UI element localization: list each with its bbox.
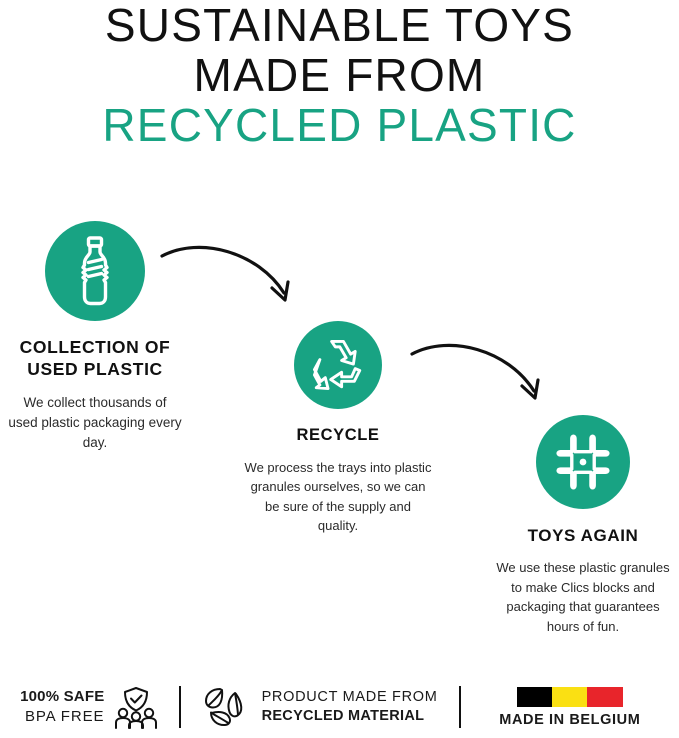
footer-badges: 100% SAFE BPA FREE [0,676,679,738]
belgium-label: MADE IN BELGIUM [499,712,640,728]
badge-made-in-belgium: MADE IN BELGIUM [461,681,679,733]
step-recycle: RECYCLE We process the trays into plasti… [238,321,438,536]
step-1-body: We collect thousands of used plastic pac… [0,393,190,454]
flag-stripe-black [517,687,552,707]
belgium-wrap: MADE IN BELGIUM [499,687,640,728]
title-line-3-accent: RECYCLED PLASTIC [0,100,679,150]
plastic-bottle-icon [68,235,122,307]
badge-bpa-free-text: 100% SAFE BPA FREE [20,687,104,727]
step-3-body: We use these plastic granules to make Cl… [487,558,679,636]
badge-bpa-free-line1: 100% SAFE [20,687,104,707]
flag-stripe-red [587,687,622,707]
step-collection-of-used-plastic: COLLECTION OF USED PLASTIC We collect th… [0,221,190,454]
badge-recycled-line2: RECYCLED MATERIAL [262,707,438,726]
step-2-circle [294,321,382,409]
badge-recycled-line1: PRODUCT MADE FROM [262,688,438,707]
step-1-circle [45,221,145,321]
badge-recycled-material-text: PRODUCT MADE FROM RECYCLED MATERIAL [262,688,438,726]
page-title: SUSTAINABLE TOYS MADE FROM RECYCLED PLAS… [0,0,679,150]
step-3-circle [536,415,630,509]
title-line-1: SUSTAINABLE TOYS [0,0,679,50]
flag-stripe-yellow [552,687,587,707]
step-3-title: TOYS AGAIN [487,525,679,546]
clics-block-icon [553,433,613,491]
badge-bpa-free: 100% SAFE BPA FREE [0,681,179,733]
badge-bpa-free-line2: BPA FREE [20,707,104,727]
title-line-2: MADE FROM [0,50,679,100]
step-2-body: We process the trays into plastic granul… [238,458,438,536]
recycle-arrows-icon [309,336,367,394]
step-toys-again: TOYS AGAIN We use these plastic granules… [487,415,679,636]
leaves-cycle-icon [203,685,251,729]
infographic-canvas: SUSTAINABLE TOYS MADE FROM RECYCLED PLAS… [0,0,679,738]
belgium-flag-icon [517,687,623,707]
step-2-title: RECYCLE [238,425,438,446]
badge-recycled-material: PRODUCT MADE FROM RECYCLED MATERIAL [181,681,458,733]
step-1-title: COLLECTION OF USED PLASTIC [0,337,190,381]
shield-check-people-icon [113,685,159,729]
